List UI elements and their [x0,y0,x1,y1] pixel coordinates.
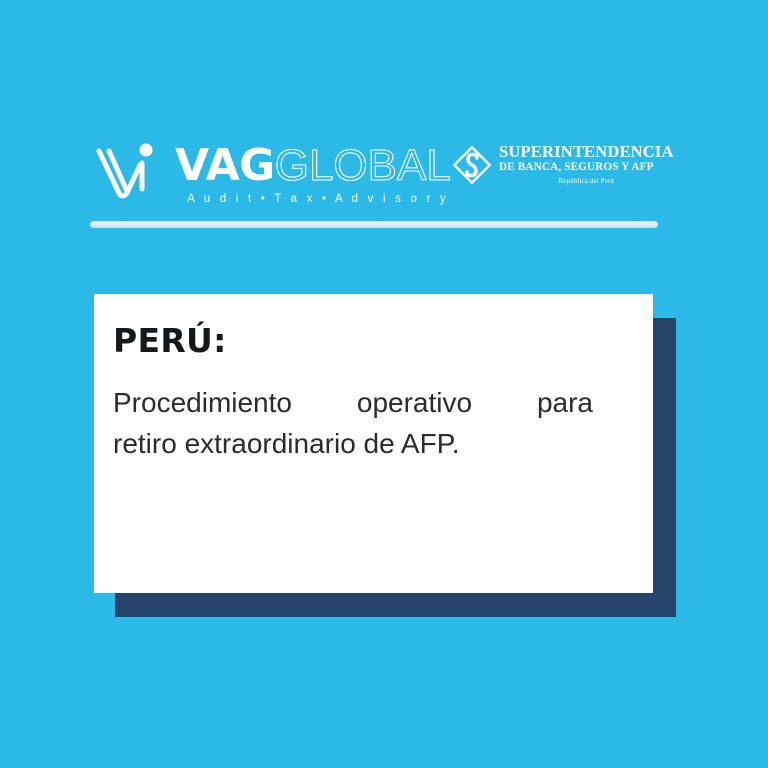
card-heading: PERÚ: [113,324,613,357]
card-content: PERÚ: Procedimiento operativo para retir… [113,324,613,465]
card-body-text: Procedimiento operativo para retiro extr… [113,383,593,465]
card-body-word: operativo [357,383,472,424]
vag-tagline: A u d i t • T a x • A d v i s o r y [175,193,451,205]
sbs-text-block: SUPERINTENDENCIA DE BANCA, SEGUROS Y AFP… [499,142,674,186]
vag-wordmark: VAG GLOBAL A u d i t • T a x • A d v i s… [175,144,451,205]
sbs-logo[interactable]: SUPERINTENDENCIA DE BANCA, SEGUROS Y AFP… [452,142,674,204]
content-card: PERÚ: Procedimiento operativo para retir… [94,294,653,593]
header-divider [90,221,658,228]
card-body-word: Procedimiento [113,383,292,424]
card-body-line-2: retiro extraordinario de AFP. [113,424,593,465]
vag-title-row: VAG GLOBAL [175,144,451,188]
vag-name-bold: VAG [175,144,275,188]
sbs-diamond-mark-icon [452,145,492,185]
vag-name-light: GLOBAL [275,144,451,188]
sbs-title-line: SUPERINTENDENCIA [499,143,674,160]
sbs-subtitle-line: DE BANCA, SEGUROS Y AFP [499,161,674,174]
header-logo-band: VAG GLOBAL A u d i t • T a x • A d v i s… [0,130,768,215]
card-body-word: para [537,383,593,424]
card-body-line-1: Procedimiento operativo para [113,383,593,424]
vag-global-logo[interactable]: VAG GLOBAL A u d i t • T a x • A d v i s… [93,130,451,215]
sbs-country-line: República del Perú [499,178,674,186]
vag-global-person-mark-icon [93,143,165,205]
poster-canvas: VAG GLOBAL A u d i t • T a x • A d v i s… [0,0,768,768]
